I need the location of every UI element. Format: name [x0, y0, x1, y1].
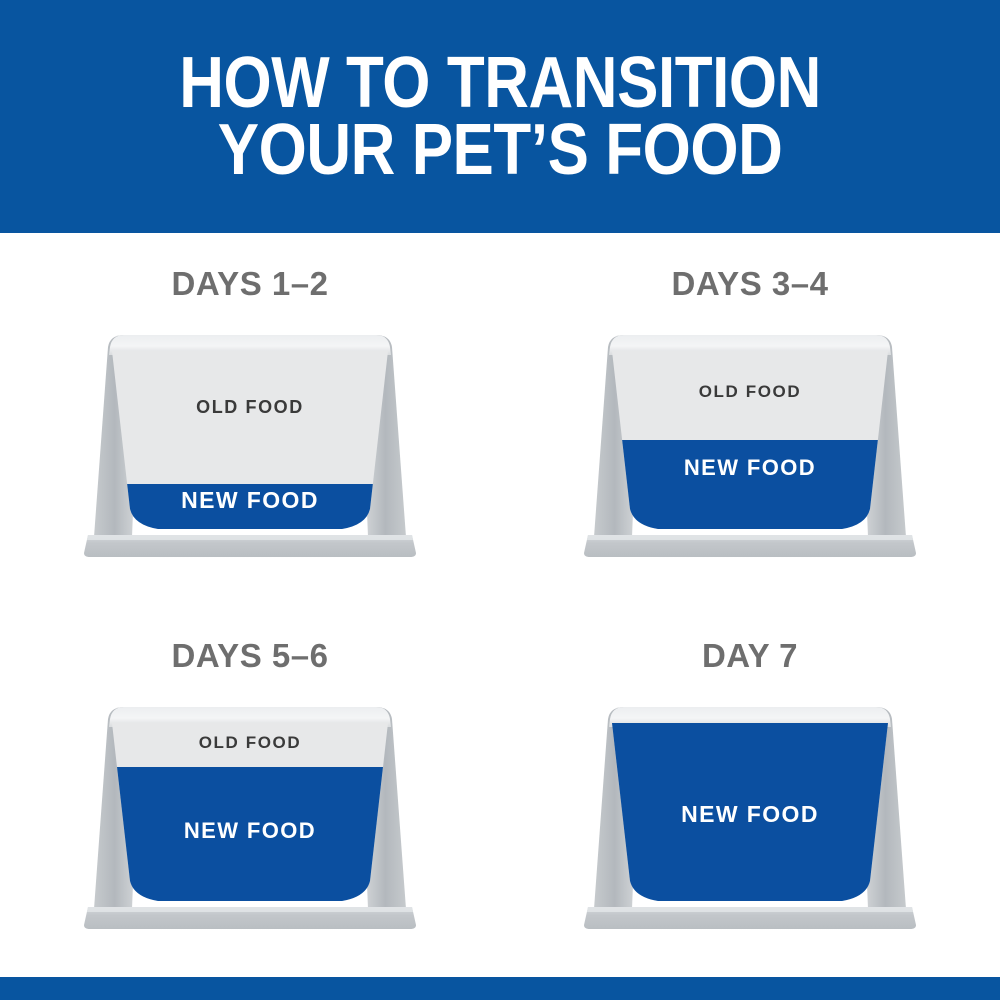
bowl-base-highlight	[587, 535, 913, 540]
bowl-illustration-icon	[80, 701, 420, 931]
bowl-days-5-6: OLD FOOD NEW FOOD	[80, 701, 420, 931]
footer-band	[0, 977, 1000, 1000]
bowl-base-highlight	[87, 907, 413, 912]
bowl-day-7: NEW FOOD	[580, 701, 920, 931]
bowl-base-highlight	[587, 907, 913, 912]
bowl-illustration-icon	[80, 329, 420, 559]
stage-label-day-7: DAY 7	[500, 637, 1000, 675]
bowl-days-1-2: OLD FOOD NEW FOOD	[80, 329, 420, 559]
bowl-illustration-icon	[580, 701, 920, 931]
stage-label-days-5-6: DAYS 5–6	[0, 637, 500, 675]
bowl-illustration-icon	[580, 329, 920, 559]
stage-label-days-3-4: DAYS 3–4	[500, 265, 1000, 303]
stage-days-1-2: DAYS 1–2	[0, 233, 500, 605]
stage-day-7: DAY 7	[500, 605, 1000, 977]
stage-days-3-4: DAYS 3–4	[500, 233, 1000, 605]
bowl-days-3-4: OLD FOOD NEW FOOD	[580, 329, 920, 559]
bowl-base-highlight	[87, 535, 413, 540]
stage-days-5-6: DAYS 5–6	[0, 605, 500, 977]
header-band: HOW TO TRANSITION YOUR PET’S FOOD	[0, 0, 1000, 233]
transition-stages-grid: DAYS 1–2	[0, 233, 1000, 977]
page-title: HOW TO TRANSITION YOUR PET’S FOOD	[162, 50, 838, 184]
stage-label-days-1-2: DAYS 1–2	[0, 265, 500, 303]
